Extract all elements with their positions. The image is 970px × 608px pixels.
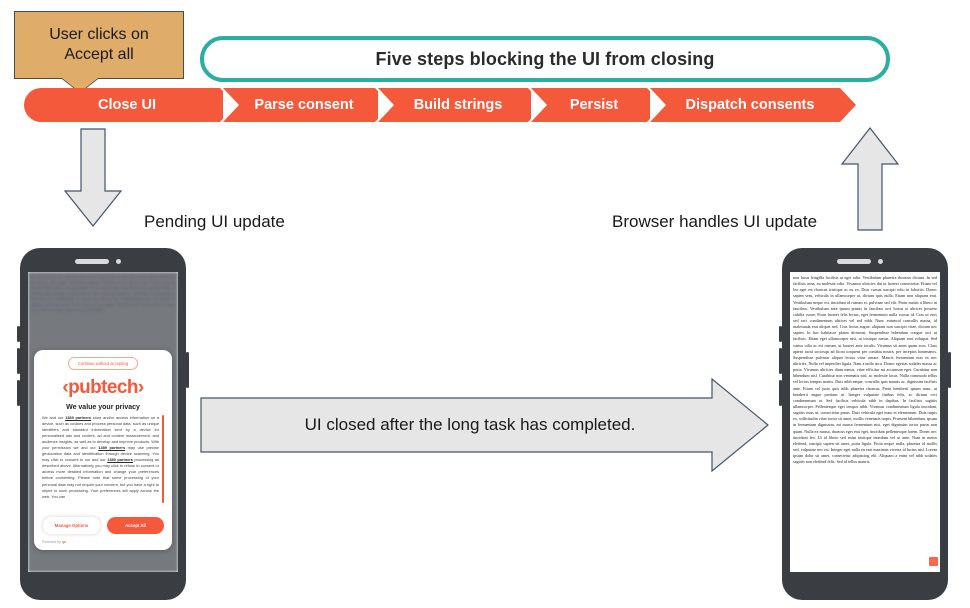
camera-icon (878, 259, 883, 264)
powered-by-brand: ‹p› (62, 540, 67, 544)
phone-button-volume-up[interactable] (17, 348, 20, 374)
phone-button-volume-down[interactable] (779, 380, 782, 406)
arrow-right-label-wrap: UI closed after the long task has comple… (200, 378, 740, 472)
accept-all-button[interactable]: Accept All (107, 517, 164, 534)
arrow-right-label: UI closed after the long task has comple… (305, 415, 636, 435)
consent-body-text: We and our 1389 partners store and/or ac… (42, 415, 164, 511)
partners-link-3[interactable]: 1389 partners (107, 457, 133, 462)
consent-scrollbar[interactable] (162, 415, 164, 503)
callout-line-2: Accept all (64, 45, 133, 65)
callout-line-1: User clicks on (49, 25, 149, 45)
phone-button-mute[interactable] (779, 326, 782, 342)
pipeline-step-close-ui[interactable]: Close UI (24, 88, 220, 122)
powered-by-label: Powered by (42, 540, 61, 544)
consent-title: We value your privacy (42, 404, 164, 411)
phone-right-screen: non lacus fringilla facilisis at eget od… (790, 272, 940, 572)
consent-body-part-1: We and our (42, 415, 65, 420)
speaker-icon (75, 259, 109, 264)
pipeline-step-label: Persist (560, 97, 618, 113)
manage-options-button[interactable]: Manage Options (42, 516, 101, 535)
phone-left-screen: tion quis libero ut sem, venenatis vitae… (28, 272, 178, 572)
pipeline-step-label: Close UI (88, 97, 156, 113)
pipeline-step-persist[interactable]: Persist (531, 88, 647, 122)
pipeline-step-label: Dispatch consents (676, 97, 815, 113)
phone-button-volume-down[interactable] (17, 380, 20, 406)
chevron-notch (650, 88, 666, 122)
consent-body-part-4: processing as described above. Alternati… (42, 457, 159, 498)
banner-five-steps: Five steps blocking the UI from closing (200, 36, 890, 82)
pipeline-step-label: Build strings (404, 97, 503, 113)
arrow-down-pending (62, 128, 124, 228)
pipeline-step-dispatch-consents[interactable]: Dispatch consents (650, 88, 840, 122)
pipeline-chevrons: Close UI Parse consent Build strings Per… (24, 88, 854, 122)
article-content: non lacus fringilla facilisis at eget od… (790, 272, 940, 572)
chevron-notch (531, 88, 547, 122)
consent-buttons: Manage Options Accept All (42, 516, 164, 535)
phone-button-power[interactable] (948, 352, 951, 388)
arrow-up-browser (839, 126, 901, 232)
chevron-notch (378, 88, 394, 122)
chevron-notch (223, 88, 239, 122)
label-pending-ui-update: Pending UI update (144, 212, 285, 232)
label-browser-handles-ui-update: Browser handles UI update (612, 212, 817, 232)
phone-button-mute[interactable] (17, 326, 20, 342)
powered-by: Powered by ‹p› (42, 540, 164, 544)
camera-icon (116, 259, 121, 264)
consent-dialog: Continue without accepting ‹pubtech› We … (34, 350, 172, 550)
pubtech-logo: ‹pubtech› (42, 377, 164, 399)
pipeline-step-label: Parse consent (244, 97, 353, 113)
phone-button-power[interactable] (186, 352, 189, 388)
partners-link-1[interactable]: 1389 partners (65, 415, 91, 420)
pipeline-step-build-strings[interactable]: Build strings (378, 88, 528, 122)
phone-right: non lacus fringilla facilisis at eget od… (782, 248, 948, 600)
continue-without-accepting-button[interactable]: Continue without accepting (68, 357, 138, 370)
ad-badge[interactable] (929, 557, 938, 566)
banner-title: Five steps blocking the UI from closing (376, 49, 715, 70)
pipeline-step-parse-consent[interactable]: Parse consent (223, 88, 375, 122)
partners-link-2[interactable]: 1389 partners (98, 445, 125, 450)
callout-user-clicks: User clicks on Accept all (14, 11, 184, 79)
phone-button-volume-up[interactable] (779, 348, 782, 374)
phone-left: tion quis libero ut sem, venenatis vitae… (20, 248, 186, 600)
speaker-icon (837, 259, 871, 264)
